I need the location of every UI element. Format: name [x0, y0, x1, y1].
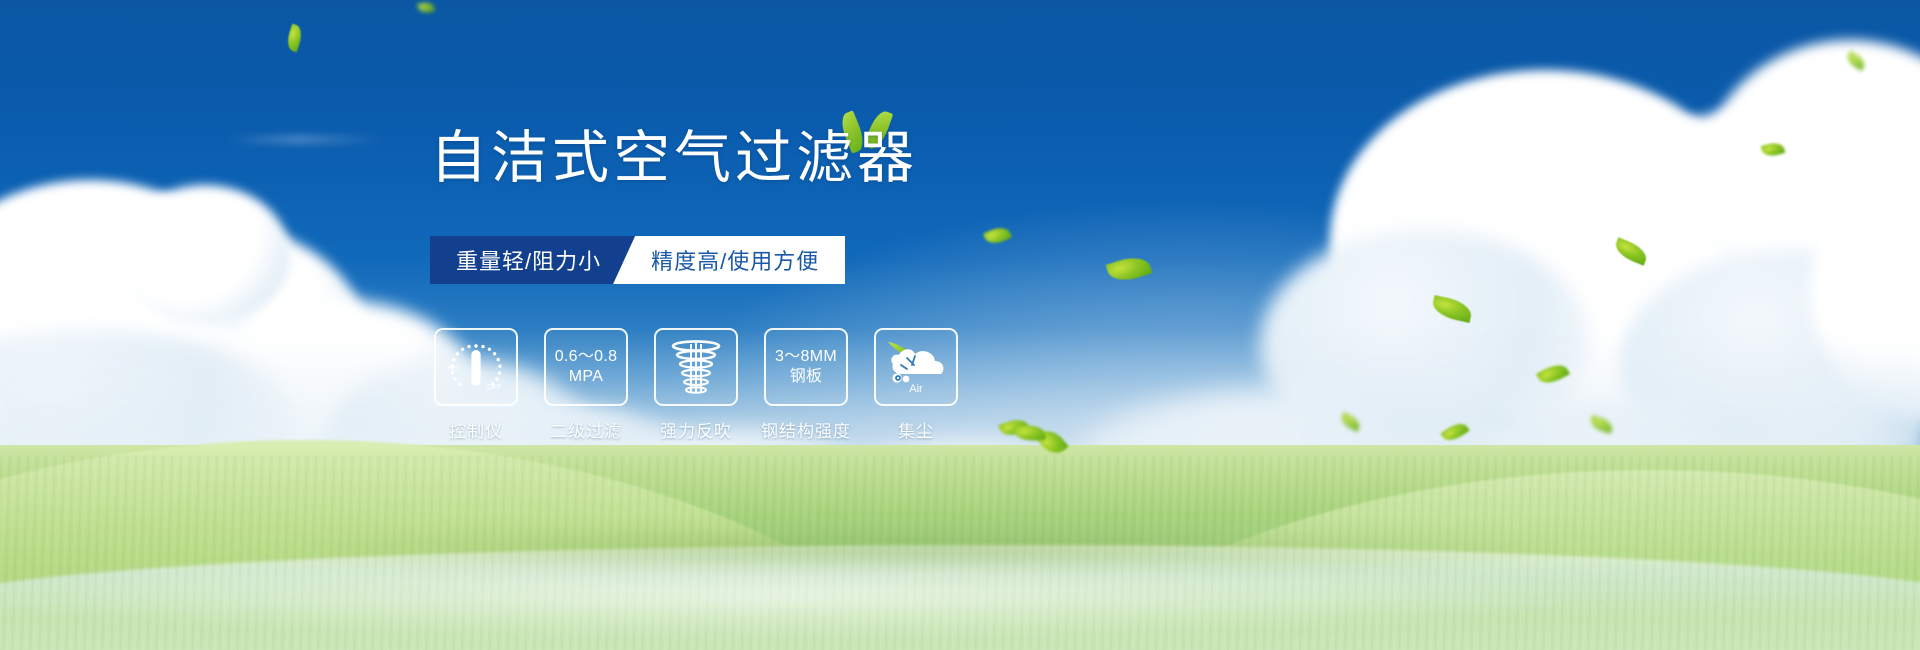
dial-off-label: OFF [487, 382, 502, 391]
feature-box: 0.6～0.8 MPA [544, 328, 628, 406]
feature-label: 钢结构强度 [761, 417, 851, 442]
air-cloud-dust-icon: Air [882, 338, 950, 396]
feature-label: 控制仪 [449, 417, 503, 442]
feature-box-line1: 3～8MM [775, 347, 837, 367]
filter-coil-icon [669, 338, 723, 396]
air-label: Air [909, 383, 923, 395]
feature-box-line1: 0.6～0.8 [555, 347, 618, 367]
banner-content: 自洁式空气过滤器 重量轻/阻力小 精度高/使用方便 [0, 0, 1920, 650]
feature-box: 3～8MM 钢板 [764, 328, 848, 406]
feature-box [654, 328, 738, 406]
feature-box-line2: 钢板 [775, 367, 837, 387]
subtitle-right-tag: 精度高/使用方便 [613, 236, 845, 284]
feature-label: 集尘 [898, 417, 934, 442]
gauge-dial-icon: NO OFF [445, 337, 507, 397]
feature-label: 二级过滤 [550, 417, 622, 442]
feature-box-line2: MPA [555, 367, 618, 387]
pressure-text-icon: 0.6～0.8 MPA [555, 347, 618, 386]
feature-item-dust-collection[interactable]: Air 集尘 [874, 328, 958, 442]
feature-label: 强力反吹 [660, 417, 732, 442]
feature-item-steel-strength[interactable]: 3～8MM 钢板 钢结构强度 [764, 328, 848, 442]
banner-title: 自洁式空气过滤器 [430, 125, 918, 192]
feature-list: NO OFF 控制仪 0.6～0.8 MPA 二级过滤 [434, 328, 958, 442]
hero-banner: 自洁式空气过滤器 重量轻/阻力小 精度高/使用方便 [0, 0, 1920, 650]
feature-box: Air [874, 328, 958, 406]
dial-no-label: NO [448, 364, 459, 373]
subtitle-bar: 重量轻/阻力小 精度高/使用方便 [430, 236, 845, 284]
feature-item-reverse-blow[interactable]: 强力反吹 [654, 328, 738, 442]
subtitle-left-tag: 重量轻/阻力小 [430, 236, 635, 284]
steel-plate-text-icon: 3～8MM 钢板 [775, 347, 837, 386]
feature-item-control-gauge[interactable]: NO OFF 控制仪 [434, 328, 518, 442]
feature-item-secondary-filtration[interactable]: 0.6～0.8 MPA 二级过滤 [544, 328, 628, 442]
feature-box: NO OFF [434, 328, 518, 406]
